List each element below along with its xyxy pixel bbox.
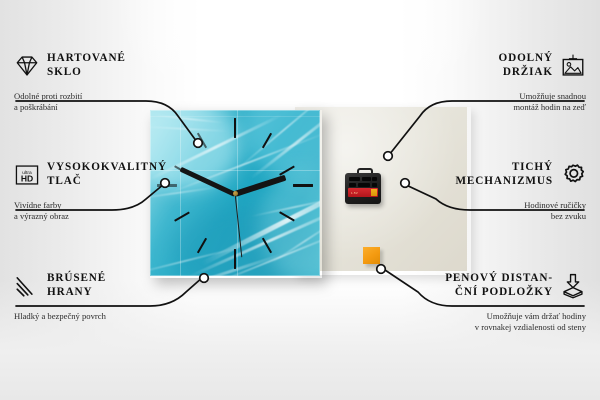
- feature-durable-hanger: ODOLNÝ DRŽIAK Umožňuje snadnou montáž ho…: [498, 52, 586, 113]
- feature-foam-pads: PENOVÝ DISTAN- ČNÍ PODLOŽKY Umožňuje vám…: [445, 272, 586, 333]
- feature-desc-line1: Umožňuje vám držať hodiny: [445, 311, 586, 322]
- feature-desc-line1: Hladký a bezpečný povrch: [14, 311, 106, 322]
- connector-dot-mechanism: [401, 179, 410, 188]
- feature-tempered-glass: HARTOVANÉ SKLO Odolné proti rozbití a po…: [14, 52, 126, 113]
- feature-desc-line1: Vivídne farby: [14, 200, 167, 211]
- feature-title-line1: VYSOKOKVALITNÝ: [47, 161, 167, 175]
- feature-title-line2: SKLO: [47, 66, 126, 80]
- wall-hanger-icon: [560, 53, 586, 79]
- feature-title-line1: HARTOVANÉ: [47, 52, 126, 66]
- feature-desc-line2: montáž hodin na zeď: [498, 102, 586, 113]
- feature-title-line2: TLAČ: [47, 175, 167, 189]
- feature-title-line2: HRANY: [47, 286, 106, 300]
- feature-title-line1: ODOLNÝ: [498, 52, 553, 66]
- feature-title-line1: BRÚSENÉ: [47, 272, 106, 286]
- polished-edges-icon: [14, 273, 40, 299]
- feature-desc-line2: v rovnakej vzdialenosti od steny: [445, 322, 586, 333]
- foam-pad-icon: [560, 273, 586, 299]
- feature-high-quality-print: ultra HD VYSOKOKVALITNÝ TLAČ Vivídne far…: [14, 161, 167, 222]
- feature-title-line2: ČNÍ PODLOŽKY: [445, 286, 553, 300]
- gear-icon: [560, 162, 586, 188]
- feature-desc-line2: a výrazný obraz: [14, 211, 167, 222]
- product-infographic: 1.5V: [0, 0, 600, 400]
- feature-title-line2: DRŽIAK: [498, 66, 553, 80]
- feature-title-line2: MECHANIZMUS: [455, 175, 553, 189]
- ultra-hd-icon: ultra HD: [14, 162, 40, 188]
- feature-desc-line1: Hodinové ručičky: [455, 200, 586, 211]
- feature-title-line1: PENOVÝ DISTAN-: [445, 272, 553, 286]
- feature-desc-line1: Umožňuje snadnou: [498, 91, 586, 102]
- connector-dot-hanger: [384, 152, 393, 161]
- connector-dot-edges: [200, 274, 209, 283]
- connector-dot-tempered-glass: [194, 139, 203, 148]
- feature-title-line1: TICHÝ: [455, 161, 553, 175]
- feature-polished-edges: BRÚSENÉ HRANY Hladký a bezpečný povrch: [14, 272, 106, 322]
- feature-desc-line2: bez zvuku: [455, 211, 586, 222]
- svg-text:HD: HD: [21, 173, 33, 183]
- connector-dot-foam: [377, 265, 386, 274]
- diamond-icon: [14, 53, 40, 79]
- feature-quiet-mechanism: TICHÝ MECHANIZMUS Hodinové ručičky bez z…: [455, 161, 586, 222]
- feature-desc-line1: Odolné proti rozbití: [14, 91, 126, 102]
- feature-desc-line2: a poškrábání: [14, 102, 126, 113]
